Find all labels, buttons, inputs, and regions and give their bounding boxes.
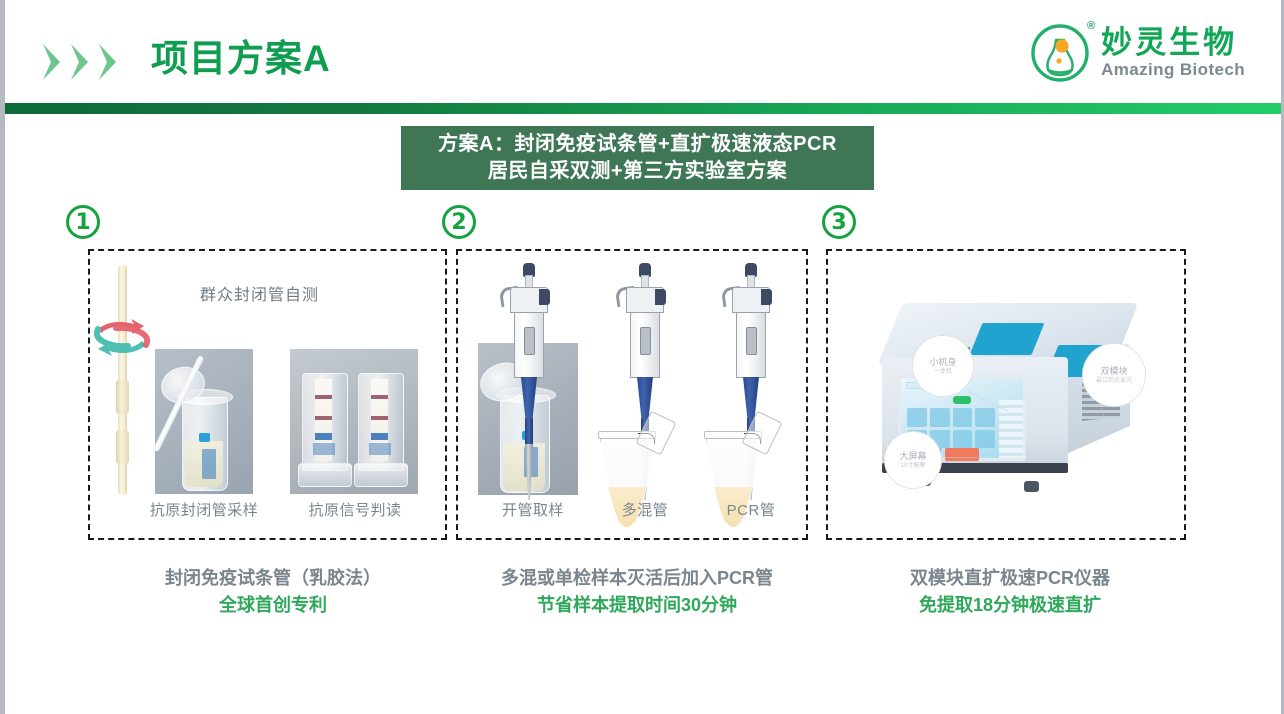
step-2-item-label-1: 开管取样 (468, 499, 598, 520)
step-2-item-label-3: PCR管 (696, 499, 806, 520)
scheme-banner: 方案A：封闭免疫试条管+直扩极速液态PCR 居民自采双测+第三方实验室方案 (401, 126, 874, 190)
registered-trademark-icon: ® (1087, 20, 1095, 32)
slide-root: 项目方案A ® 妙灵生物 Amazing Biotech 方案A：封闭免疫试条管… (0, 0, 1284, 714)
antigen-closed-tube-sampling-photo (155, 349, 253, 494)
logo-name-cn: 妙灵生物 (1101, 26, 1245, 60)
step-2-item-label-2: 多混管 (590, 499, 700, 520)
page-title: 项目方案A (151, 36, 331, 82)
dual-module-pcr-instrument-photo: SQ24 小机身 一体机 双模块 最口荧光采光 大屏幕 (876, 303, 1138, 483)
rotation-arrows-icon (94, 315, 154, 367)
step-2-caption-line-2: 节省样本提取时间30分钟 (442, 592, 832, 619)
header-separator-bar (5, 103, 1281, 114)
footer-captions: 封闭免疫试条管（乳胶法） 全球首创专利 多混或单检样本灭活后加入PCR管 节省样… (0, 565, 1284, 635)
callout-dual-module: 双模块 最口荧光采光 (1082, 343, 1146, 407)
step-1-number-badge: 1 (66, 205, 100, 239)
step-3-caption-line-2: 免提取18分钟极速直扩 (822, 592, 1198, 619)
step-1-caption: 封闭免疫试条管（乳胶法） 全球首创专利 (66, 565, 480, 619)
company-logo: ® 妙灵生物 Amazing Biotech (1029, 18, 1245, 88)
pipette-icon-1 (494, 263, 564, 493)
callout-small-body: 小机身 一体机 (912, 335, 974, 397)
step-1-item-label-2: 抗原信号判读 (285, 499, 425, 520)
swab-stick-icon (118, 265, 127, 495)
step-2-caption: 多混或单检样本灭活后加入PCR管 节省样本提取时间30分钟 (442, 565, 832, 619)
banner-line-1: 方案A：封闭免疫试条管+直扩极速液态PCR (438, 131, 837, 158)
step-2-caption-line-1: 多混或单检样本灭活后加入PCR管 (442, 565, 832, 592)
banner-line-2: 居民自采双测+第三方实验室方案 (488, 158, 787, 185)
step-1-caption-line-1: 封闭免疫试条管（乳胶法） (66, 565, 480, 592)
logo-name-en: Amazing Biotech (1101, 60, 1245, 80)
step-1-panel: 群众封闭管自测 (88, 249, 447, 540)
callout-leader-3 (938, 457, 982, 458)
callout-large-screen: 大屏幕 10寸触屏 (884, 431, 942, 489)
step-1-item-label-1: 抗原封闭管采样 (130, 499, 278, 520)
step-1-caption-line-2: 全球首创专利 (66, 592, 480, 619)
slide-header: 项目方案A ® 妙灵生物 Amazing Biotech (5, 0, 1281, 103)
step-3-panel: SQ24 小机身 一体机 双模块 最口荧光采光 大屏幕 (826, 249, 1186, 540)
antigen-signal-reading-photo (290, 349, 418, 494)
chevrons-right-icon (43, 44, 125, 80)
steps-row: 1 群众封闭管自测 (0, 205, 1284, 545)
step-2-panel: 开管取样 多混管 PCR管 (456, 249, 808, 540)
step-3-number-badge: 3 (822, 205, 856, 239)
step-1-header-label: 群众封闭管自测 (200, 281, 319, 305)
step-2-number-badge: 2 (442, 205, 476, 239)
module-lid-left-icon (970, 323, 1045, 355)
step-3-caption: 双模块直扩极速PCR仪器 免提取18分钟极速直扩 (822, 565, 1198, 619)
step-3-caption-line-1: 双模块直扩极速PCR仪器 (822, 565, 1198, 592)
flask-circle-logo-icon: ® (1029, 22, 1091, 84)
